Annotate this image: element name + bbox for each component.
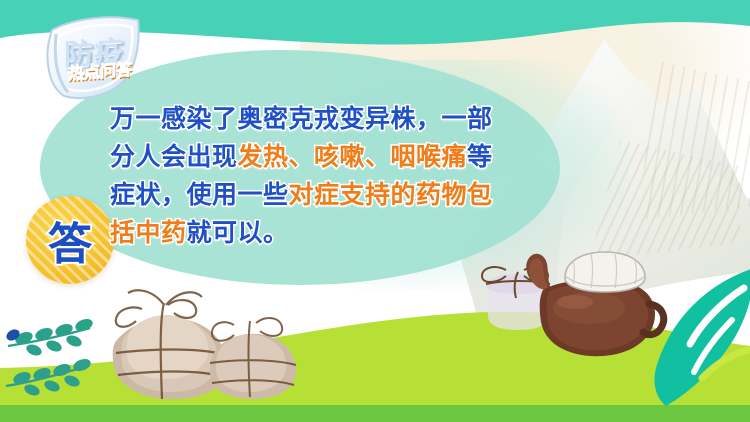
answer-text-line: 症状，使用一些对症支持的药物包 xyxy=(110,176,580,214)
answer-text-run: 症状，使用一些 xyxy=(110,180,289,209)
answer-text-run-highlight: 对症支持的药物包 xyxy=(289,180,493,209)
answer-text-run-highlight: 括中药 xyxy=(110,218,187,247)
answer-text-line: 万一感染了奥密克戎变异株，一部 xyxy=(110,100,580,138)
answer-text-run: 万一感染了奥密克戎变异株，一部 xyxy=(110,104,493,133)
herb-bundle-illustration xyxy=(108,279,323,404)
leaf-branch-icon xyxy=(4,308,124,400)
answer-text-line: 括中药就可以。 xyxy=(110,214,580,252)
answer-text-run: 就可以。 xyxy=(187,218,289,247)
program-logo: 防疫 热点问答 xyxy=(34,14,162,102)
clay-teapot-illustration xyxy=(503,240,678,370)
poster-canvas: 防疫 热点问答 答 答 万一感染了奥密克戎变异株，一部 分人会出现发热、咳嗽、咽… xyxy=(0,0,750,422)
logo-sub-text: 热点问答 xyxy=(68,56,132,84)
answer-badge: 答 答 xyxy=(26,196,114,284)
answer-text-run: 等 xyxy=(467,142,493,171)
answer-badge-label: 答 xyxy=(26,196,114,284)
answer-text-block: 万一感染了奥密克戎变异株，一部 分人会出现发热、咳嗽、咽喉痛等 症状，使用一些对… xyxy=(110,100,580,252)
answer-text-line: 分人会出现发热、咳嗽、咽喉痛等 xyxy=(110,138,580,176)
answer-text-run-highlight: 发热、咳嗽、咽喉痛 xyxy=(238,142,468,171)
mountain-texture-streaks-upper xyxy=(640,60,750,220)
answer-text-run: 分人会出现 xyxy=(110,142,238,171)
